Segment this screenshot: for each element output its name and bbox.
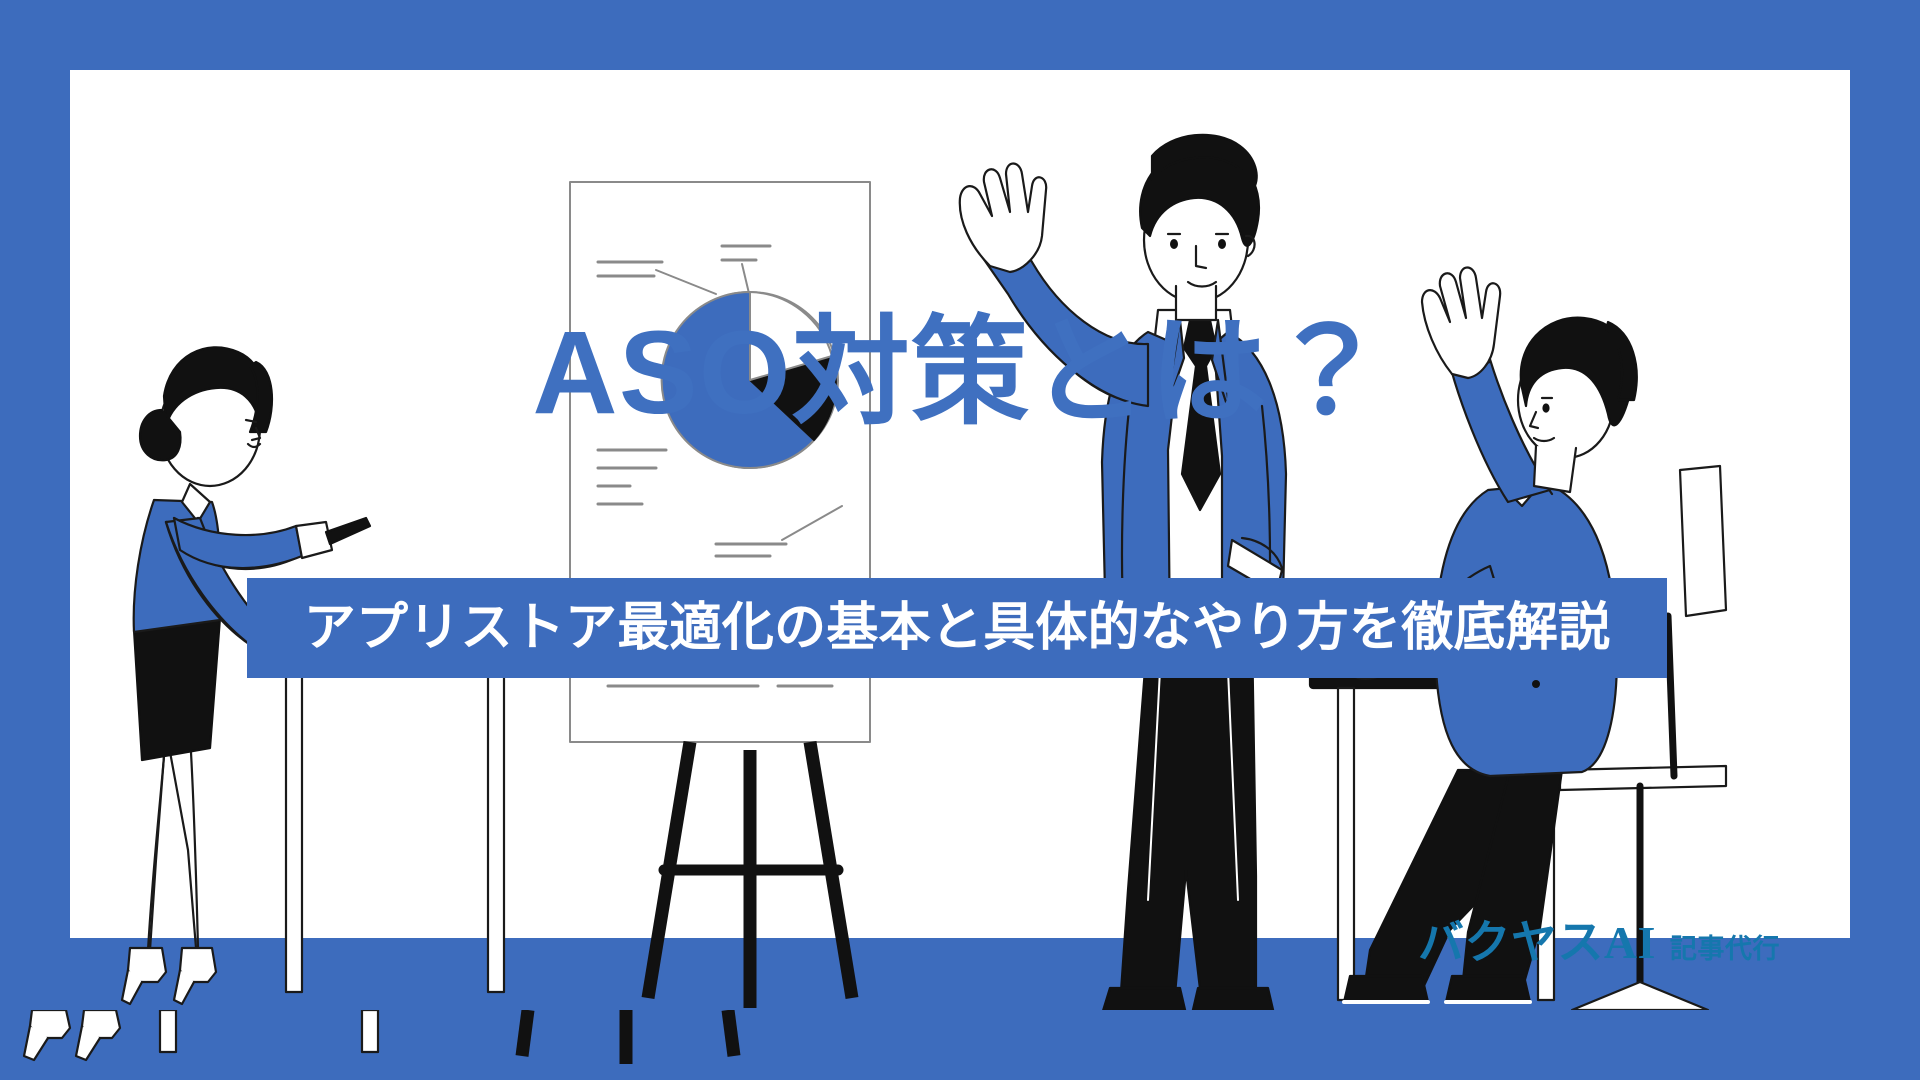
illustration-overflow-feet xyxy=(20,1010,780,1080)
illustration-container xyxy=(70,70,1850,1010)
brand-logo: バクヤスAI 記事代行 xyxy=(1418,920,1780,966)
logo-brand-name: バクヤスAI xyxy=(1418,920,1656,966)
business-team-illustration xyxy=(70,70,1850,1010)
slide-canvas: ASO対策とは？ アプリストア最適化の基本と具体的なやり方を徹底解説 バクヤスA… xyxy=(0,0,1920,1080)
figure-man-standing xyxy=(960,135,1286,1010)
content-panel xyxy=(70,70,1850,1010)
subtitle-banner: アプリストア最適化の基本と具体的なやり方を徹底解説 xyxy=(247,578,1667,678)
page-title: ASO対策とは？ xyxy=(0,312,1920,436)
logo-service-name: 記事代行 xyxy=(1670,936,1780,963)
subtitle-text: アプリストア最適化の基本と具体的なやり方を徹底解説 xyxy=(304,602,1611,654)
